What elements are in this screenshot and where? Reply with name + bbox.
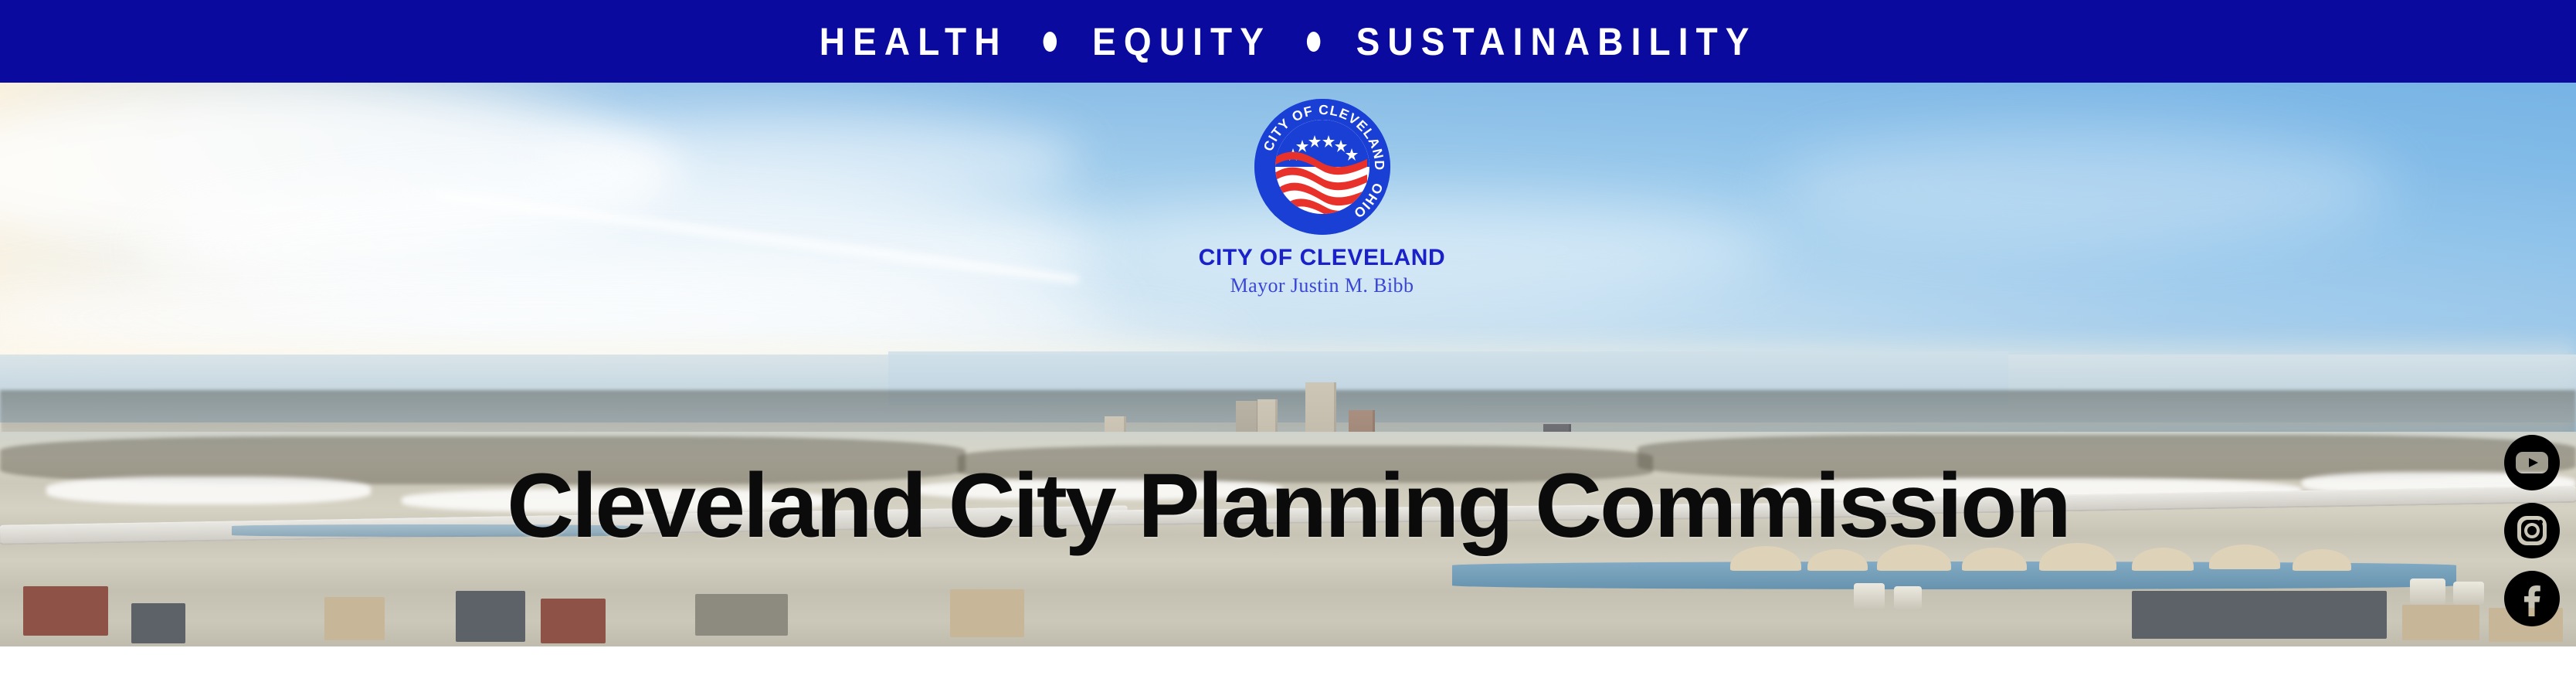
mayor-name: Mayor Justin M. Bibb (1230, 274, 1414, 297)
building-foreground (950, 589, 1024, 637)
brand-name: CITY OF CLEVELAND (1199, 246, 1446, 270)
page-title: Cleveland City Planning Commission (0, 460, 2576, 551)
tagline-word-health: HEALTH (820, 22, 1008, 61)
instagram-link[interactable] (2502, 500, 2562, 561)
youtube-link[interactable] (2502, 433, 2562, 493)
bullet-dot-icon (1043, 32, 1056, 52)
building-foreground (2132, 591, 2387, 639)
building-foreground (324, 597, 385, 640)
city-of-cleveland-seal-icon: CITY OF CLEVELAND OHIO (1254, 99, 1390, 235)
building-foreground (456, 591, 525, 642)
facebook-icon (2502, 568, 2562, 629)
building-foreground (695, 594, 788, 636)
building-foreground (23, 586, 108, 636)
bullet-dot-icon (1307, 32, 1320, 52)
social-links (2497, 433, 2567, 629)
storage-tank (2453, 582, 2484, 605)
storage-tank (1854, 583, 1885, 609)
page-root: HEALTH EQUITY SUSTAINABILITY (0, 0, 2576, 682)
youtube-icon (2502, 433, 2562, 493)
tagline-word-sustainability: SUSTAINABILITY (1356, 22, 1756, 61)
storage-tank (2410, 579, 2445, 605)
tagline-text-group: HEALTH EQUITY SUSTAINABILITY (820, 22, 1757, 61)
tagline-word-equity: EQUITY (1092, 22, 1271, 61)
building-foreground (541, 599, 606, 643)
footer-white-strip (0, 646, 2576, 682)
facebook-link[interactable] (2502, 568, 2562, 629)
brand-block: CITY OF CLEVELAND OHIO CITY OF CLEVELAND… (0, 99, 2576, 297)
instagram-icon (2502, 500, 2562, 561)
building-foreground (131, 603, 185, 643)
building-foreground (2402, 605, 2479, 640)
sand-pile (2293, 549, 2351, 571)
tagline-banner: HEALTH EQUITY SUSTAINABILITY (0, 0, 2576, 83)
storage-tank (1894, 586, 1922, 609)
